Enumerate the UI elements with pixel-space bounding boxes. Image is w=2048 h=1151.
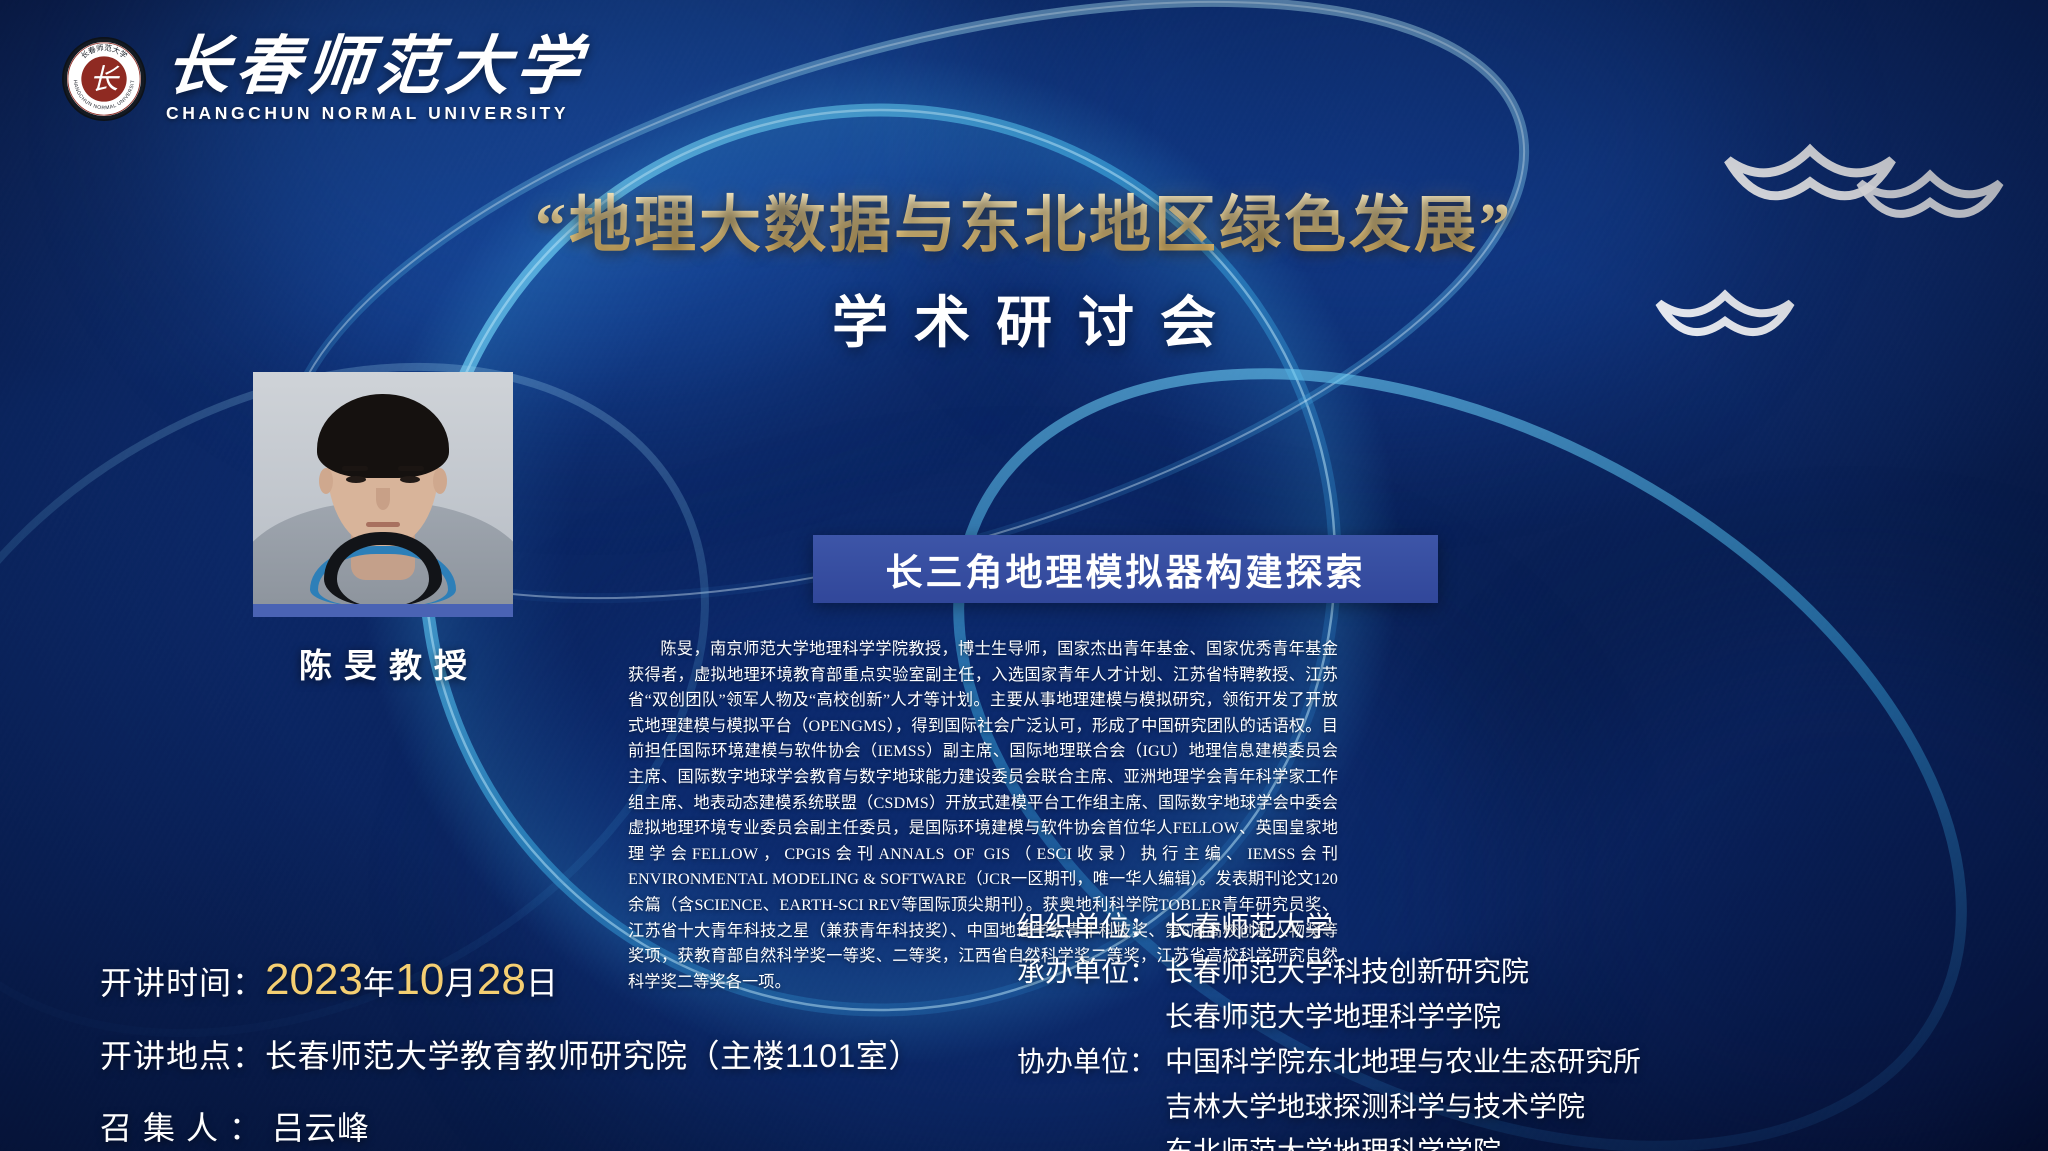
organizer-row: 长春师范大学地理科学学院 xyxy=(1007,995,1641,1035)
event-date-month: 10 xyxy=(395,955,444,1004)
event-detail-row: 开讲时间：2023年10月28日 xyxy=(100,955,921,1005)
event-detail-label: 开讲时间： xyxy=(100,958,265,1004)
organizer-row: 组织单位：长春师范大学 xyxy=(1007,905,1641,945)
event-detail-label: 开讲地点： xyxy=(100,1031,265,1077)
page-title-text: “地理大数据与东北地区绿色发展” xyxy=(535,192,1513,260)
organizer-row: 吉林大学地球探测科学与技术学院 xyxy=(1007,1085,1641,1125)
page-title: “地理大数据与东北地区绿色发展” xyxy=(0,174,2048,264)
university-name-cn: 长春师范大学 xyxy=(163,34,590,99)
organizer-value: 中国科学院东北地理与农业生态研究所 xyxy=(1165,1040,1641,1080)
portrait-underline xyxy=(253,604,513,617)
page-subtitle: 学术研讨会 xyxy=(0,278,2048,359)
organizer-row: 协办单位：中国科学院东北地理与农业生态研究所 xyxy=(1007,1040,1641,1080)
event-date-day: 28 xyxy=(477,955,526,1004)
organizer-value: 长春师范大学科技创新研究院 xyxy=(1165,950,1529,990)
organizer-row: 承办单位：长春师范大学科技创新研究院 xyxy=(1007,950,1641,990)
svg-text:长: 长 xyxy=(90,65,121,96)
speaker-name: 陈旻教授 xyxy=(253,639,513,687)
organizer-value: 长春师范大学 xyxy=(1165,905,1333,945)
speaker-portrait-photo xyxy=(253,372,513,604)
organizer-label: 承办单位： xyxy=(1007,950,1157,990)
organizer-value: 长春师范大学地理科学学院 xyxy=(1165,995,1501,1035)
lecture-title-text: 长三角地理模拟器构建探索 xyxy=(886,542,1366,596)
event-detail-row: 开讲地点：长春师范大学教育教师研究院（主楼1101室） xyxy=(100,1031,921,1077)
university-name-en: CHANGCHUN NORMAL UNIVERSITY xyxy=(166,103,586,124)
event-detail-label: 召集人： xyxy=(100,1103,272,1149)
event-detail-value: 吕云峰 xyxy=(272,1103,370,1149)
event-details: 开讲时间：2023年10月28日开讲地点：长春师范大学教育教师研究院（主楼110… xyxy=(100,955,921,1151)
event-detail-value: 2023年10月28日 xyxy=(265,955,558,1005)
organizer-label: 组织单位： xyxy=(1007,905,1157,945)
organizer-list: 组织单位：长春师范大学承办单位：长春师范大学科技创新研究院长春师范大学地理科学学… xyxy=(1007,905,1641,1151)
organizer-value: 东北师范大学地理科学学院 xyxy=(1165,1130,1501,1151)
event-detail-value: 长春师范大学教育教师研究院（主楼1101室） xyxy=(265,1031,921,1077)
event-date-year: 2023 xyxy=(265,955,363,1004)
organizer-label: 协办单位： xyxy=(1007,1040,1157,1080)
organizer-value: 吉林大学地球探测科学与技术学院 xyxy=(1165,1085,1585,1125)
organizer-row: 东北师范大学地理科学学院 xyxy=(1007,1130,1641,1151)
speaker-block: 陈旻教授 xyxy=(253,372,513,687)
poster-canvas: 长春师范大学 CHANGCHUN NORMAL UNIVERSITY 长 长春师… xyxy=(0,0,2048,1151)
lecture-title-banner: 长三角地理模拟器构建探索 xyxy=(813,535,1438,603)
university-header: 长春师范大学 CHANGCHUN NORMAL UNIVERSITY 长 长春师… xyxy=(62,34,586,124)
event-detail-row: 召集人：吕云峰 xyxy=(100,1103,921,1149)
university-seal-icon: 长春师范大学 CHANGCHUN NORMAL UNIVERSITY 长 xyxy=(62,37,146,121)
